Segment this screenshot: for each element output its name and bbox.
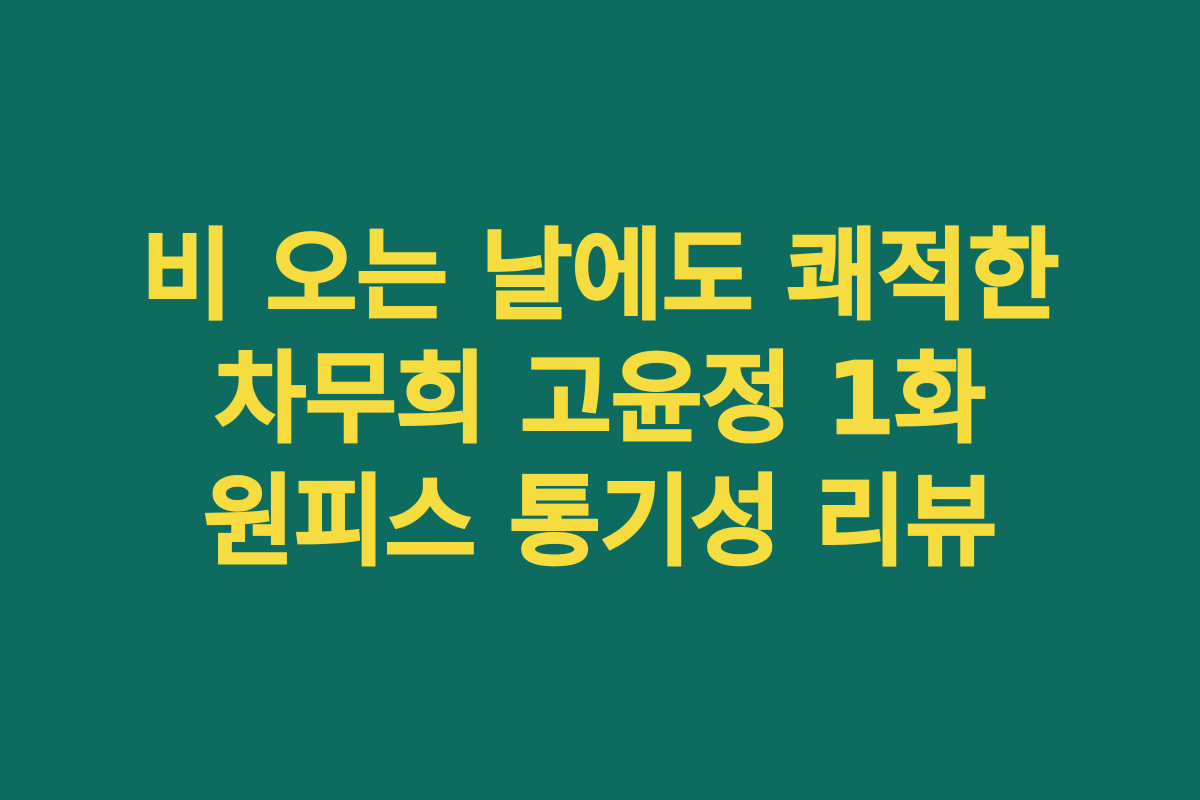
headline-title: 비 오는 날에도 쾌적한 차무희 고윤정 1화 원피스 통기성 리뷰: [95, 215, 1105, 584]
thumbnail-canvas: 비 오는 날에도 쾌적한 차무희 고윤정 1화 원피스 통기성 리뷰: [0, 0, 1200, 800]
headline-block: 비 오는 날에도 쾌적한 차무희 고윤정 1화 원피스 통기성 리뷰: [95, 215, 1105, 584]
